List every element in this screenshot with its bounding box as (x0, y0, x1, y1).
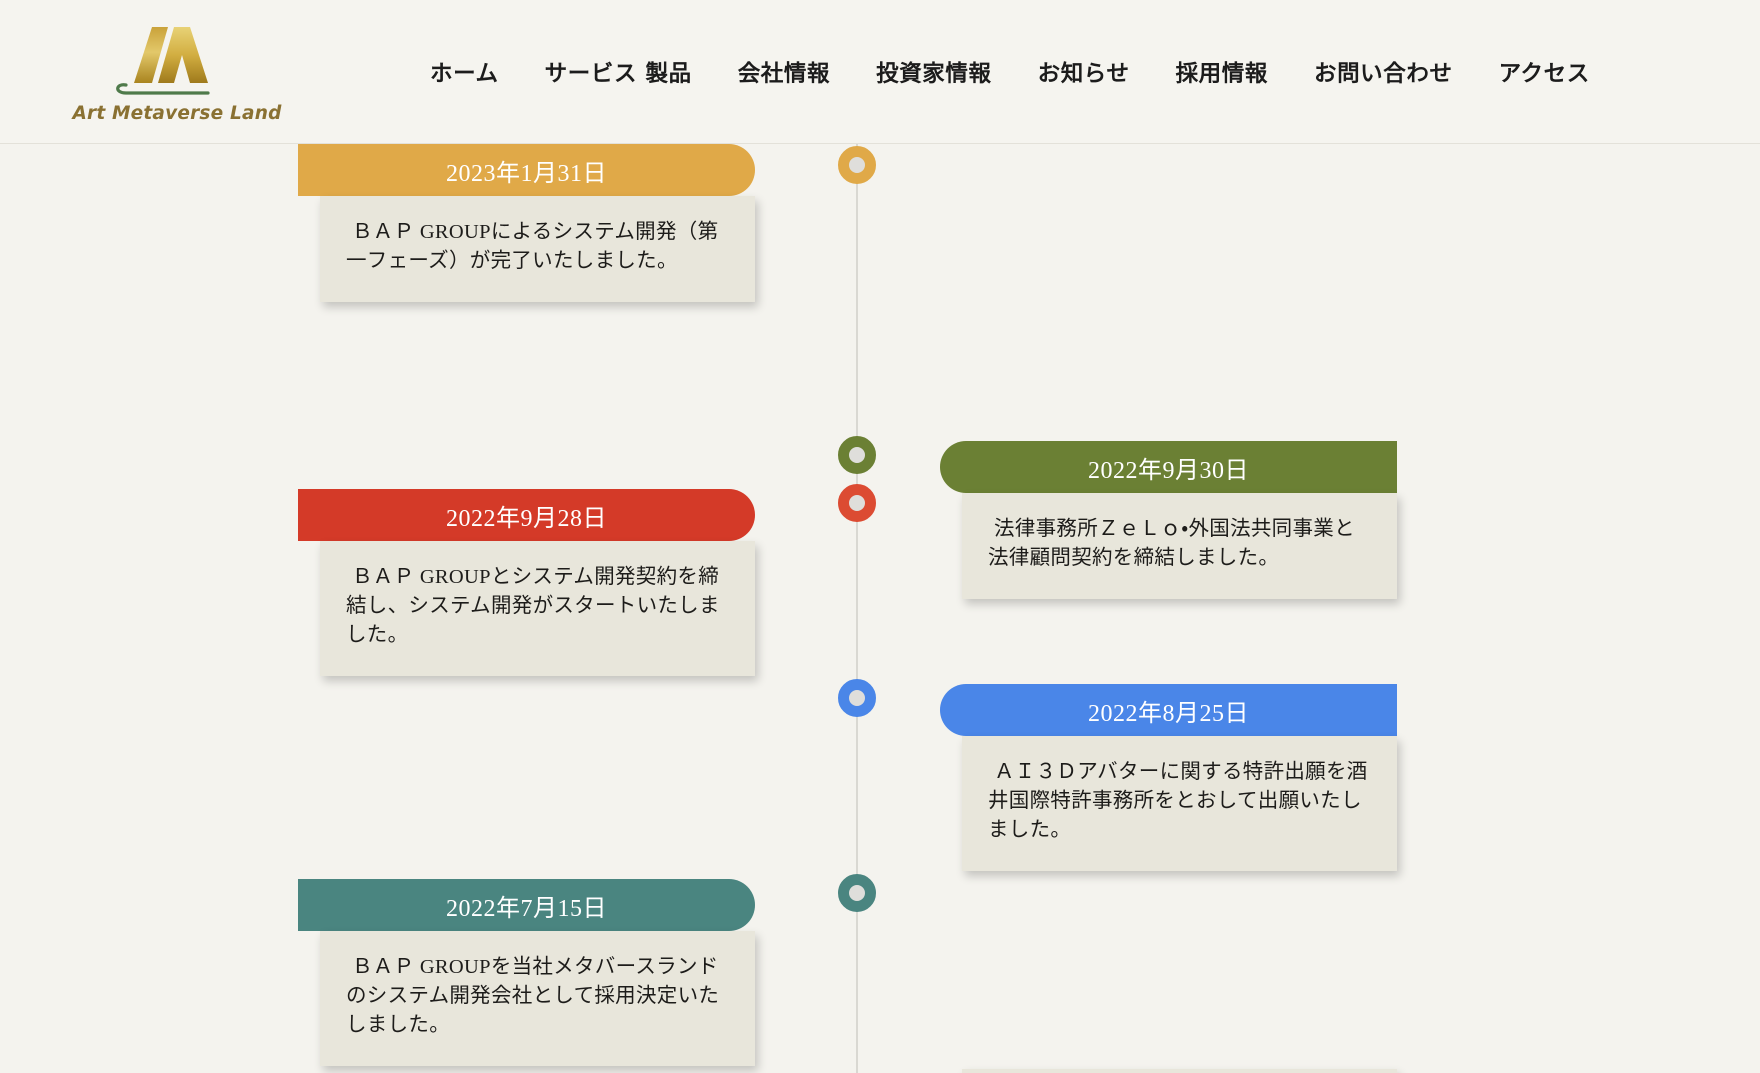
timeline-entry-text: ＡＩ３Ｄアバターに関する特許出願を酒井国際特許事務所をとおして出願いたしました。 (988, 758, 1371, 845)
nav-item-home[interactable]: ホーム (430, 48, 499, 96)
brand-logo-link[interactable]: Art Metaverse Land (62, 10, 292, 134)
nav-item-company[interactable]: 会社情報 (738, 48, 830, 96)
timeline-entry-text: 法律事務所ＺｅＬｏ・外国法共同事業と法律顧問契約を締結しました。 (988, 515, 1371, 573)
nav-item-recruit[interactable]: 採用情報 (1176, 48, 1268, 96)
main-navigation: ホーム サービス 製品 会社情報 投資家情報 お知らせ 採用情報 お問い合わせ … (430, 0, 1590, 144)
timeline-entry-date-ribbon: 2022年8月25日 (940, 684, 1397, 736)
site-header: Art Metaverse Land ホーム サービス 製品 会社情報 投資家情… (0, 0, 1760, 144)
timeline-entry-text: ＢＡＰ GROUPを当社メタバースランドのシステム開発会社として採用決定いたしま… (346, 953, 729, 1040)
timeline-axis-line (856, 144, 858, 1073)
timeline-dot[interactable] (838, 146, 876, 184)
timeline-entry-date-ribbon: 2023年1月31日 (298, 144, 755, 196)
brand-name: Art Metaverse Land (72, 103, 281, 124)
nav-item-investors[interactable]: 投資家情報 (876, 48, 992, 96)
timeline-dot[interactable] (838, 484, 876, 522)
timeline-entry-body: ＢＡＰ GROUPを当社メタバースランドのシステム開発会社として採用決定いたしま… (320, 931, 755, 1066)
nav-item-contact[interactable]: お問い合わせ (1314, 48, 1453, 96)
timeline-entry: 2022年8月25日ＡＩ３Ｄアバターに関する特許出願を酒井国際特許事務所をとおし… (962, 684, 1397, 871)
timeline-entry-text: ＢＡＰ GROUPとシステム開発契約を締結し、システム開発がスタートいたしました… (346, 563, 729, 650)
timeline-entry (962, 1069, 1397, 1073)
nav-item-access[interactable]: アクセス (1499, 48, 1590, 96)
timeline-dot[interactable] (838, 436, 876, 474)
timeline-dot[interactable] (838, 874, 876, 912)
timeline-entry-text: ＢＡＰ GROUPによるシステム開発（第一フェーズ）が完了いたしました。 (346, 218, 729, 276)
aml-gold-monogram-logo (90, 21, 265, 107)
timeline-entry-body: ＢＡＰ GROUPとシステム開発契約を締結し、システム開発がスタートいたしました… (320, 541, 755, 676)
timeline-entry: 2023年1月31日ＢＡＰ GROUPによるシステム開発（第一フェーズ）が完了い… (320, 144, 755, 302)
timeline-entry: 2022年9月28日ＢＡＰ GROUPとシステム開発契約を締結し、システム開発が… (320, 489, 755, 676)
timeline-entry: 2022年9月30日法律事務所ＺｅＬｏ・外国法共同事業と法律顧問契約を締結しまし… (962, 441, 1397, 599)
timeline-entry-body: 法律事務所ＺｅＬｏ・外国法共同事業と法律顧問契約を締結しました。 (962, 493, 1397, 599)
timeline-entry: 2022年7月15日ＢＡＰ GROUPを当社メタバースランドのシステム開発会社と… (320, 879, 755, 1066)
company-history-timeline: 2023年1月31日ＢＡＰ GROUPによるシステム開発（第一フェーズ）が完了い… (0, 144, 1760, 1073)
nav-item-services-products[interactable]: サービス 製品 (545, 48, 692, 96)
nav-item-news[interactable]: お知らせ (1038, 48, 1130, 96)
timeline-entry-date-ribbon: 2022年9月30日 (940, 441, 1397, 493)
timeline-entry-body: ＢＡＰ GROUPによるシステム開発（第一フェーズ）が完了いたしました。 (320, 196, 755, 302)
timeline-entry-date-ribbon: 2022年9月28日 (298, 489, 755, 541)
timeline-entry-date-ribbon: 2022年7月15日 (298, 879, 755, 931)
timeline-entry-body: ＡＩ３Ｄアバターに関する特許出願を酒井国際特許事務所をとおして出願いたしました。 (962, 736, 1397, 871)
timeline-entry-body (962, 1069, 1397, 1073)
timeline-dot[interactable] (838, 679, 876, 717)
